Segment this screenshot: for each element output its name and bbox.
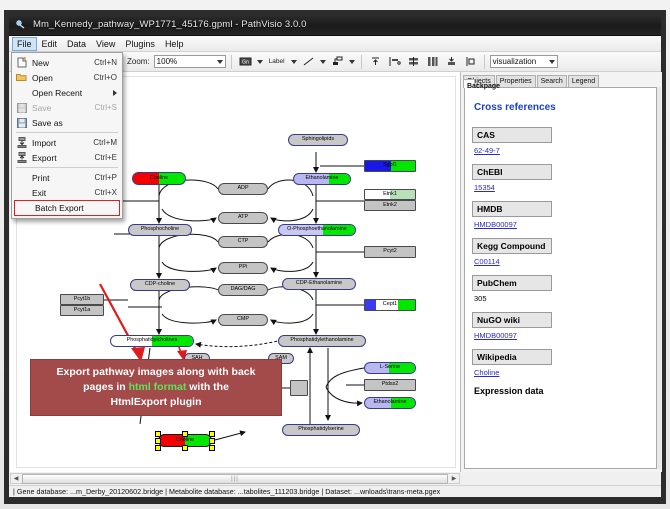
- xref-label-kegg-compound: Kegg Compound: [472, 238, 552, 254]
- node-atp[interactable]: ATP: [218, 212, 268, 224]
- gene-fill-right: [398, 300, 415, 310]
- node-label: CTP: [238, 239, 249, 244]
- selection-handle[interactable]: [209, 431, 215, 437]
- annotation-callout: Export pathway images along with back pa…: [30, 359, 282, 416]
- node-ctp[interactable]: CTP: [218, 236, 268, 248]
- node-o-phosphoethanolamine[interactable]: O-Phosphoethanolamine: [278, 224, 356, 236]
- align-center-icon[interactable]: [405, 53, 422, 70]
- align-top-icon[interactable]: [367, 53, 384, 70]
- node-label: Choline: [176, 438, 194, 443]
- xref-value-pubchem: 305: [474, 294, 649, 303]
- menu-item-new-accel: Ctrl+N: [94, 58, 122, 67]
- menu-item-exit-label: Exit: [29, 188, 95, 198]
- annotation-highlight: html format: [129, 381, 187, 393]
- pathvisio-icon: [15, 19, 27, 31]
- screenshot-root: Mm_Kennedy_pathway_WP1771_45176.gpml - P…: [0, 0, 670, 509]
- node-label: Phosphatidylserine: [298, 427, 344, 432]
- menu-item-import-label: Import: [29, 138, 93, 148]
- xref-label-hmdb: HMDB: [472, 201, 552, 217]
- xref-link-kegg-compound[interactable]: C00114: [474, 257, 649, 266]
- xref-label-pubchem: PubChem: [472, 275, 552, 291]
- datanode-dropdown-icon[interactable]: [256, 55, 264, 69]
- export-icon: [14, 151, 29, 164]
- node-ppi[interactable]: PPi: [218, 262, 268, 274]
- gene-label: Sgpl1: [383, 163, 397, 168]
- side-panel: Objects Properties Backpage Search Legen…: [461, 72, 662, 472]
- node-label: ADP: [237, 186, 248, 191]
- node-cmp[interactable]: CMP: [218, 314, 268, 326]
- gene-pcyt1a[interactable]: Pcyt1a: [60, 305, 104, 316]
- import-icon: [14, 136, 29, 149]
- annotation-line3: HtmlExport plugin: [111, 396, 202, 408]
- scrollbar-grip-icon: |||: [231, 476, 239, 482]
- selection-handle[interactable]: [155, 431, 161, 437]
- menu-item-batch-export-label: Batch Export: [32, 203, 119, 213]
- gene-etnk2[interactable]: Etnk2: [364, 200, 416, 211]
- zoom-combo[interactable]: 100%: [154, 55, 226, 68]
- node-label: CDP-choline: [145, 282, 175, 287]
- menu-item-export-label: Export: [29, 153, 95, 163]
- annotation-line1: Export pathway images along with back: [57, 366, 256, 378]
- menu-item-batch-export[interactable]: Batch Export: [14, 200, 120, 216]
- gene-cept1[interactable]: Cept1: [364, 299, 416, 311]
- node-l-serine[interactable]: L-Serine: [364, 362, 416, 374]
- node-label: Ethanolamine: [306, 176, 339, 181]
- xref-label-cas: CAS: [472, 127, 552, 143]
- gene-ptdss2[interactable]: Ptdss2: [364, 379, 416, 391]
- node-ethanolamine-top[interactable]: Ethanolamine: [293, 173, 351, 185]
- menu-item-print-label: Print: [29, 173, 95, 183]
- menu-data[interactable]: Data: [62, 37, 91, 51]
- menu-separator-2: [16, 167, 118, 168]
- menu-separator-1: [16, 132, 118, 133]
- selection-handle[interactable]: [209, 438, 215, 444]
- toolbar-separator: [231, 55, 232, 69]
- node-phosphatidylethanolamine[interactable]: Phosphatidylethanolamine: [278, 335, 366, 347]
- gene-label: Pcyt2: [383, 249, 396, 254]
- menu-item-import-accel: Ctrl+M: [93, 138, 122, 147]
- side-panel-tabs: Objects Properties Backpage Search Legen…: [463, 74, 660, 88]
- save-disk-icon: [14, 101, 29, 114]
- blank-icon-4: [17, 202, 32, 215]
- annotation-line2-b: with the: [186, 381, 229, 393]
- svg-text:Gn: Gn: [242, 60, 249, 66]
- label-dropdown-icon[interactable]: [290, 55, 298, 69]
- chevron-down-icon-2: [549, 60, 555, 64]
- blank-icon: [14, 86, 29, 99]
- menu-item-open-label: Open: [29, 73, 94, 83]
- side-panel-scrollbar[interactable]: [657, 87, 661, 469]
- group-icon[interactable]: [462, 53, 479, 70]
- xref-link-hmdb[interactable]: HMDB00097: [474, 220, 649, 229]
- menu-file[interactable]: File: [12, 37, 37, 51]
- stack-icon[interactable]: [443, 53, 460, 70]
- menu-item-save-as-label: Save as: [29, 118, 117, 128]
- menu-item-new[interactable]: New Ctrl+N: [12, 55, 122, 70]
- new-document-icon: [14, 56, 29, 69]
- line-icon[interactable]: [300, 53, 317, 70]
- node-label: Ethanolamine: [374, 400, 407, 405]
- menu-item-save-accel: Ctrl+S: [95, 103, 122, 112]
- gene-label: Pcyt1a: [74, 308, 90, 313]
- node-label: CMP: [237, 317, 249, 322]
- menu-item-open-accel: Ctrl+O: [94, 73, 122, 82]
- xref-label-wikipedia: Wikipedia: [472, 349, 552, 365]
- save-as-icon: [14, 116, 29, 129]
- node-cdp-choline[interactable]: CDP-choline: [130, 279, 190, 291]
- tab-backpage[interactable]: Backpage: [463, 79, 475, 88]
- menu-item-print[interactable]: Print Ctrl+P: [12, 170, 122, 185]
- menu-item-exit-accel: Ctrl+X: [95, 188, 122, 197]
- menu-item-export[interactable]: Export Ctrl+E: [12, 150, 122, 165]
- menu-item-export-accel: Ctrl+E: [95, 153, 122, 162]
- menu-plugins[interactable]: Plugins: [120, 37, 160, 51]
- zoom-label: Zoom:: [127, 57, 150, 66]
- backpage-content: Cross references CAS 62-49-7 ChEBI 15354…: [464, 87, 657, 469]
- node-ethanolamine-right[interactable]: Ethanolamine: [364, 397, 416, 409]
- selection-handle[interactable]: [155, 438, 161, 444]
- menu-edit[interactable]: Edit: [37, 37, 63, 51]
- menu-item-open[interactable]: Open Ctrl+O: [12, 70, 122, 85]
- file-menu-popup: New Ctrl+N Open Ctrl+O Open Recent Save: [11, 52, 123, 219]
- submenu-arrow-icon: [113, 90, 117, 96]
- status-text: | Gene database: ...m_Derby_20120602.bri…: [13, 487, 440, 496]
- expression-data-heading: Expression data: [474, 386, 649, 396]
- scrollbar-thumb[interactable]: |||: [22, 474, 448, 484]
- toolbar-separator-2: [361, 55, 362, 69]
- gene-sgpl1[interactable]: Sgpl1: [364, 160, 416, 172]
- node-phosphocholine[interactable]: Phosphocholine: [128, 224, 192, 236]
- menu-bar: File Edit Data View Plugins Help: [9, 36, 661, 52]
- xref-link-cas[interactable]: 62-49-7: [474, 146, 649, 155]
- gene-label: Ptdss2: [382, 382, 398, 387]
- gene-label: Cept1: [383, 302, 397, 307]
- gene-pcyt2[interactable]: Pcyt2: [364, 246, 416, 258]
- scroll-left-icon[interactable]: ◀: [11, 474, 21, 483]
- node-label: L-Serine: [380, 365, 400, 370]
- node-label: CDP-Ethanolamine: [296, 281, 342, 286]
- node-sphingolipids[interactable]: Sphingolipids: [288, 134, 348, 146]
- node-label: Choline: [150, 176, 168, 181]
- node-label: Phosphatidylethanolamine: [290, 338, 353, 343]
- line-dropdown-icon[interactable]: [319, 55, 327, 69]
- xref-link-chebi[interactable]: 15354: [474, 183, 649, 192]
- xref-label-nugo-wiki: NuGO wiki: [472, 312, 552, 328]
- node-cdp-ethanolamine[interactable]: CDP-Ethanolamine: [282, 278, 356, 290]
- zoom-value: 100%: [157, 57, 177, 66]
- node-phosphatidylcholines[interactable]: Phosphatidylcholines: [110, 335, 194, 347]
- node-adp[interactable]: ADP: [218, 183, 268, 195]
- group-box[interactable]: [290, 380, 308, 396]
- selection-handle[interactable]: [182, 445, 188, 451]
- canvas-horizontal-scrollbar[interactable]: ◀ ||| ▶: [10, 473, 460, 484]
- node-label: Phosphatidylcholines: [127, 338, 178, 343]
- pathvisio-window: Mm_Kennedy_pathway_WP1771_45176.gpml - P…: [8, 13, 662, 497]
- align-left-icon[interactable]: [386, 53, 403, 70]
- menu-item-save-as[interactable]: Save as: [12, 115, 122, 130]
- folder-open-icon: [14, 71, 29, 84]
- menu-item-open-recent[interactable]: Open Recent: [12, 85, 122, 100]
- align-middle-icon[interactable]: [424, 53, 441, 70]
- xref-label-chebi: ChEBI: [472, 164, 552, 180]
- selection-handle[interactable]: [155, 445, 161, 451]
- node-label: Sphingolipids: [302, 137, 334, 142]
- label-button[interactable]: Label: [266, 56, 288, 67]
- node-label: PPi: [239, 265, 247, 270]
- gene-label: Etnk2: [383, 203, 397, 208]
- annotation-line2-a: pages in: [83, 381, 129, 393]
- menu-view[interactable]: View: [91, 37, 120, 51]
- node-label: DAG/DAG: [231, 287, 256, 292]
- interaction-icon[interactable]: [329, 53, 346, 70]
- node-label: ATP: [238, 215, 248, 220]
- gene-etnk1[interactable]: Etnk1: [364, 189, 416, 200]
- datanode-icon[interactable]: Gn: [237, 53, 254, 70]
- gene-label: Pcyt1b: [74, 297, 90, 302]
- window-title: Mm_Kennedy_pathway_WP1771_45176.gpml - P…: [33, 19, 307, 30]
- menu-item-exit[interactable]: Exit Ctrl+X: [12, 185, 122, 200]
- toolbar-separator-3: [484, 55, 485, 69]
- selection-handle[interactable]: [209, 445, 215, 451]
- blank-icon-3: [14, 186, 29, 199]
- menu-item-new-label: New: [29, 58, 94, 68]
- visualization-combo[interactable]: visualization: [490, 55, 558, 68]
- xref-link-wikipedia[interactable]: Choline: [474, 368, 649, 377]
- menu-item-save-label: Save: [29, 103, 95, 113]
- visualization-value: visualization: [493, 57, 537, 66]
- status-bar: | Gene database: ...m_Derby_20120602.bri…: [9, 485, 661, 497]
- menu-item-open-recent-label: Open Recent: [29, 88, 122, 98]
- title-bar: Mm_Kennedy_pathway_WP1771_45176.gpml - P…: [9, 14, 661, 36]
- menu-item-import[interactable]: Import Ctrl+M: [12, 135, 122, 150]
- interaction-dropdown-icon[interactable]: [348, 55, 356, 69]
- gene-pcyt1b[interactable]: Pcyt1b: [60, 294, 104, 305]
- menu-item-save: Save Ctrl+S: [12, 100, 122, 115]
- node-label: Phosphocholine: [141, 227, 179, 232]
- node-dagdag[interactable]: DAG/DAG: [218, 284, 268, 296]
- menu-item-print-accel: Ctrl+P: [95, 173, 122, 182]
- node-choline-top[interactable]: Choline: [132, 172, 186, 185]
- blank-icon-2: [14, 171, 29, 184]
- node-label: O-Phosphoethanolamine: [287, 227, 347, 232]
- gene-label: Etnk1: [383, 192, 397, 197]
- cross-references-heading: Cross references: [474, 102, 649, 113]
- selection-handle[interactable]: [182, 431, 188, 437]
- node-phosphatidylserine[interactable]: Phosphatidylserine: [282, 424, 360, 436]
- xref-link-nugo-wiki[interactable]: HMDB00097: [474, 331, 649, 340]
- scroll-right-icon[interactable]: ▶: [449, 474, 459, 483]
- menu-help[interactable]: Help: [160, 37, 189, 51]
- chevron-down-icon: [217, 60, 223, 64]
